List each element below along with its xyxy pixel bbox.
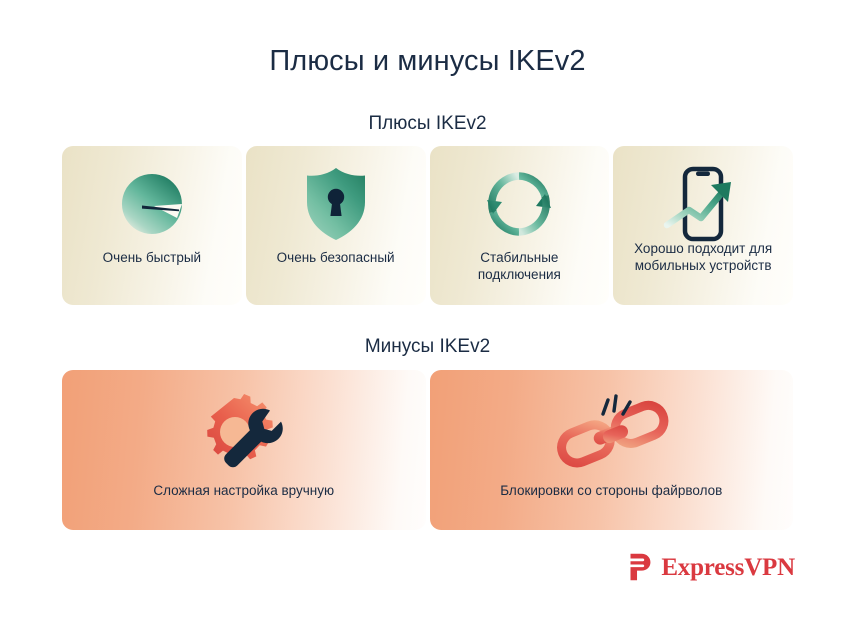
mobile-growth-icon [613, 166, 793, 242]
pros-card-label: Хорошо подходит для мобильных устройств [621, 240, 785, 274]
pros-card-row: Очень быстрый [62, 146, 793, 305]
expressvpn-logo: ExpressVPN [623, 552, 795, 582]
shield-keyhole-icon [246, 166, 426, 242]
expressvpn-logo-icon [623, 552, 653, 582]
cons-card-label: Сложная настройка вручную [70, 482, 418, 499]
pros-card-secure: Очень безопасный [246, 146, 426, 305]
brand-name: ExpressVPN [661, 555, 795, 580]
broken-chain-icon [430, 392, 794, 476]
section-title-pros: Плюсы IKEv2 [0, 113, 855, 135]
pros-card-mobile: Хорошо подходит для мобильных устройств [613, 146, 793, 305]
section-title-cons: Минусы IKEv2 [0, 336, 855, 358]
cons-card-firewall-blocks: Блокировки со стороны файрволов [430, 370, 794, 530]
cons-card-label: Блокировки со стороны файрволов [438, 482, 786, 499]
cons-card-manual-setup: Сложная настройка вручную [62, 370, 426, 530]
pros-card-label: Очень безопасный [254, 249, 418, 266]
page-title: Плюсы и минусы IKEv2 [0, 45, 855, 78]
infographic-page: Плюсы и минусы IKEv2 Плюсы IKEv2 [0, 0, 855, 630]
speedometer-icon [62, 166, 242, 242]
pros-card-fast: Очень быстрый [62, 146, 242, 305]
gear-wrench-icon [62, 392, 426, 476]
pros-card-label: Стабильные подключения [438, 249, 602, 283]
cons-card-row: Сложная настройка вручную [62, 370, 793, 530]
refresh-cycle-icon [430, 166, 610, 242]
pros-card-stable: Стабильные подключения [430, 146, 610, 305]
pros-card-label: Очень быстрый [70, 249, 234, 266]
